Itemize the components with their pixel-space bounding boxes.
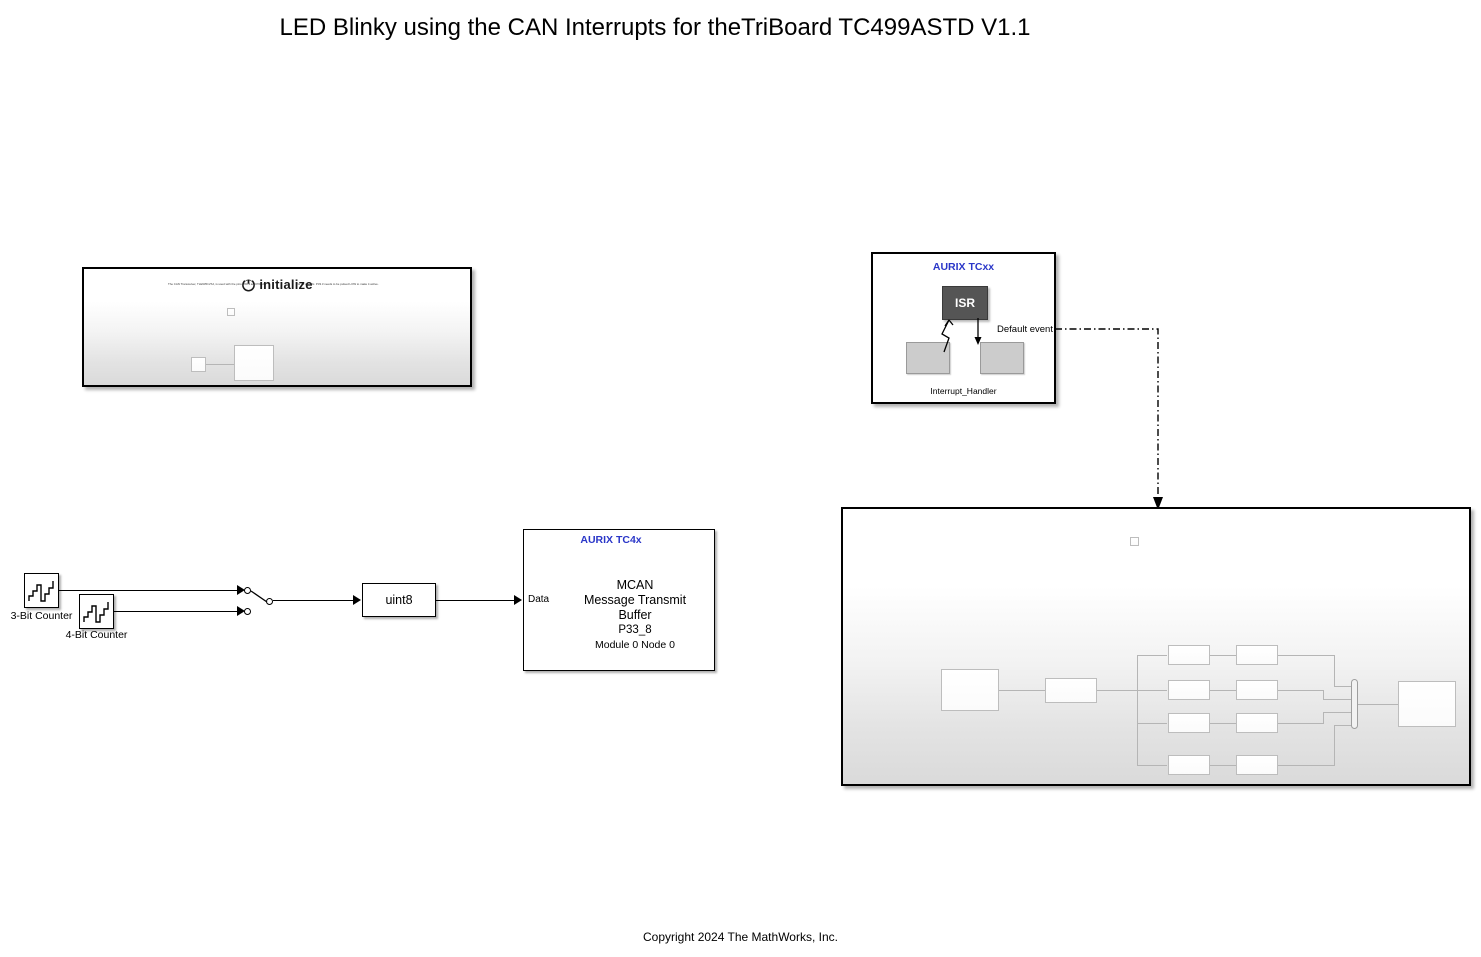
- ghost-mux-feed-4h: [1334, 725, 1352, 726]
- ghost-wire: [206, 364, 234, 365]
- counter-waveform-icon: [80, 595, 113, 628]
- ghost-branch-3: [1137, 723, 1167, 724]
- ghost-mux-feed-1h: [1334, 686, 1352, 687]
- ghost-mux-feed-3: [1278, 723, 1323, 724]
- ghost-mux-feed-2v: [1323, 690, 1324, 699]
- ghost-stage-block: [1045, 678, 1097, 703]
- isr-transition-arrows: [920, 312, 1000, 354]
- ghost-branch-bus: [1137, 655, 1138, 765]
- ghost-wire-r1: [1210, 655, 1236, 656]
- initialize-header-label: initialize: [259, 277, 312, 292]
- isr-chart-name-label: Interrupt_Handler: [871, 386, 1056, 396]
- page-title: LED Blinky using the CAN Interrupts for …: [0, 14, 1310, 42]
- initialize-subsystem[interactable]: The CAN Transceiver, TLE9351VSJ, is used…: [82, 267, 472, 387]
- ghost-row1-b: [1236, 645, 1278, 665]
- mcan-line-2: Message Transmit: [554, 593, 716, 608]
- ghost-mux-feed-3v: [1323, 712, 1324, 724]
- wire-counter3-to-switch: [59, 590, 237, 591]
- ghost-row2-a: [1168, 680, 1210, 700]
- ghost-row4-a: [1168, 755, 1210, 775]
- mcan-line-4: P33_8: [554, 623, 716, 638]
- copyright-note: Copyright 2024 The MathWorks, Inc.: [0, 930, 1481, 944]
- ghost-mux-feed-4: [1278, 765, 1334, 766]
- default-event-label: Default event: [997, 324, 1053, 335]
- ghost-mux-feed-1v: [1334, 655, 1335, 686]
- ghost-port: [1130, 537, 1139, 546]
- mcan-line-1: MCAN: [554, 578, 716, 593]
- ghost-branch-4: [1137, 765, 1167, 766]
- mcan-line-5: Module 0 Node 0: [554, 638, 716, 653]
- mcan-transmit-block[interactable]: AURIX TC4x MCAN Message Transmit Buffer …: [523, 529, 715, 671]
- counter-4bit-block[interactable]: [79, 594, 114, 629]
- ghost-wire-r2: [1210, 690, 1236, 691]
- ghost-block: [234, 345, 274, 381]
- ghost-sink-block: [1398, 681, 1456, 727]
- ghost-row2-b: [1236, 680, 1278, 700]
- isr-chart-vendor-label: AURIX TCxx: [873, 261, 1054, 273]
- counter-4bit-label: 4-Bit Counter: [55, 629, 138, 641]
- data-type-convert-block[interactable]: uint8: [362, 583, 436, 617]
- ghost-mux-block: [1351, 679, 1358, 729]
- ghost-wire-r4: [1210, 765, 1236, 766]
- initialize-header: initialize: [84, 277, 470, 292]
- mcan-data-port-label: Data: [528, 594, 549, 605]
- ghost-mux-feed-2h: [1323, 699, 1352, 700]
- arrow-mcan-data-in: [514, 595, 522, 605]
- counter-3bit-label: 3-Bit Counter: [0, 610, 83, 622]
- counter-waveform-icon: [25, 574, 58, 607]
- default-event-connection: [1055, 320, 1175, 515]
- ghost-wire-2: [1097, 690, 1137, 691]
- function-call-subsystem[interactable]: [841, 507, 1471, 786]
- counter-3bit-block[interactable]: [24, 573, 59, 608]
- ghost-mux-feed-1: [1278, 655, 1334, 656]
- mcan-line-3: Buffer: [554, 608, 716, 623]
- power-icon: [241, 277, 256, 292]
- ghost-row1-a: [1168, 645, 1210, 665]
- ghost-row4-b: [1236, 755, 1278, 775]
- ghost-wire-mux-out: [1358, 704, 1398, 705]
- ghost-constant: [191, 357, 206, 372]
- mcan-vendor-label: AURIX TC4x: [524, 534, 714, 546]
- ghost-source-block: [941, 669, 999, 711]
- mcan-block-text: MCAN Message Transmit Buffer P33_8 Modul…: [554, 578, 716, 653]
- ghost-mux-feed-4v: [1334, 725, 1335, 766]
- wire-uint8-to-mcan: [436, 600, 514, 601]
- ghost-branch-1: [1137, 655, 1167, 656]
- ghost-mux-feed-3h: [1323, 712, 1352, 713]
- wire-switch-to-uint8: [273, 600, 353, 601]
- ghost-wire-1: [999, 690, 1045, 691]
- arrow-uint8-in: [353, 595, 361, 605]
- ghost-port-top: [227, 308, 235, 316]
- ghost-branch-2: [1137, 690, 1167, 691]
- ghost-wire-r3: [1210, 723, 1236, 724]
- wire-counter4-to-switch: [114, 611, 237, 612]
- ghost-mux-feed-2: [1278, 690, 1323, 691]
- ghost-row3-a: [1168, 713, 1210, 733]
- ghost-row3-b: [1236, 713, 1278, 733]
